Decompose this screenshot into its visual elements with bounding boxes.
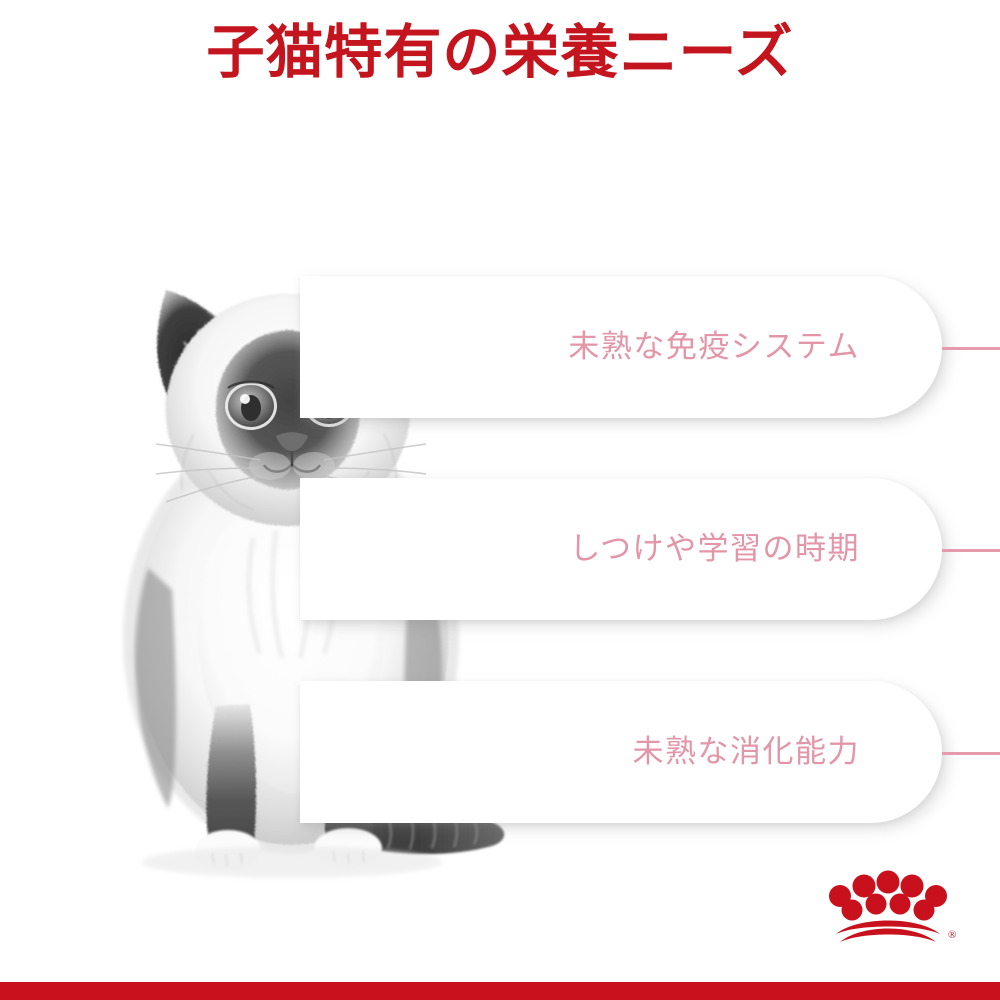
callout-card-training-learning[interactable]: しつけや学習の時期 <box>300 478 942 620</box>
callout-card-immune-system[interactable]: 未熟な免疫システム <box>300 276 942 418</box>
callout-connector-line-3 <box>942 752 1000 755</box>
bottom-accent-bar <box>0 982 1000 1000</box>
page-title: 子猫特有の栄養ニーズ <box>0 16 1000 88</box>
logo-trademark-symbol: ® <box>948 929 956 941</box>
infographic-page: 子猫特有の栄養ニーズ <box>0 0 1000 1000</box>
callout-label-digestion: 未熟な消化能力 <box>633 732 943 772</box>
callout-connector-line-2 <box>942 549 1000 552</box>
callout-label-training-learning: しつけや学習の時期 <box>569 529 942 569</box>
royal-canin-crown-logo: ® <box>818 862 958 948</box>
callout-card-digestion[interactable]: 未熟な消化能力 <box>300 681 942 823</box>
callout-connector-line-1 <box>942 347 1000 350</box>
callout-label-immune-system: 未熟な免疫システム <box>568 327 942 367</box>
